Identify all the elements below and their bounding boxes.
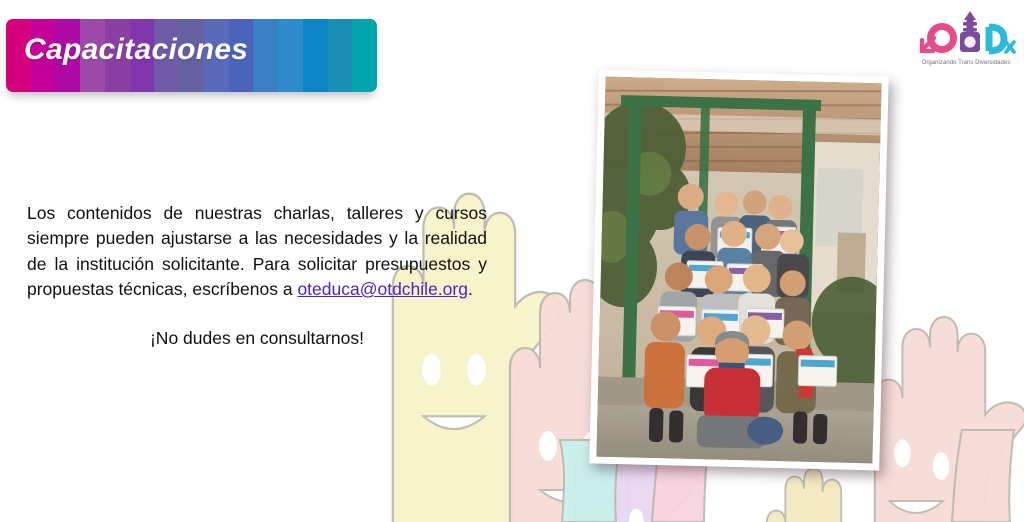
banner-color-band (253, 19, 278, 92)
banner-color-band (352, 19, 377, 92)
banner-color-band (278, 19, 303, 92)
logo-tagline: Organizando Trans Diversidades (922, 59, 1011, 66)
slide-title: Capacitaciones (24, 33, 248, 67)
otd-logo: Organizando Trans Diversidades (916, 8, 1016, 70)
banner-color-band (328, 19, 353, 92)
slide-canvas: Capacitaciones Los contenidos de nuestra… (0, 0, 1024, 522)
body-text-after-link: . (468, 279, 473, 299)
group-photo-image (596, 77, 881, 464)
body-paragraph: Los contenidos de nuestras charlas, tall… (27, 201, 487, 303)
banner-color-band (303, 19, 328, 92)
group-photo-card (589, 70, 889, 471)
email-link[interactable]: oteduca@otdchile.org (297, 279, 468, 299)
call-to-action-text: ¡No dudes en consultarnos! (27, 328, 487, 349)
